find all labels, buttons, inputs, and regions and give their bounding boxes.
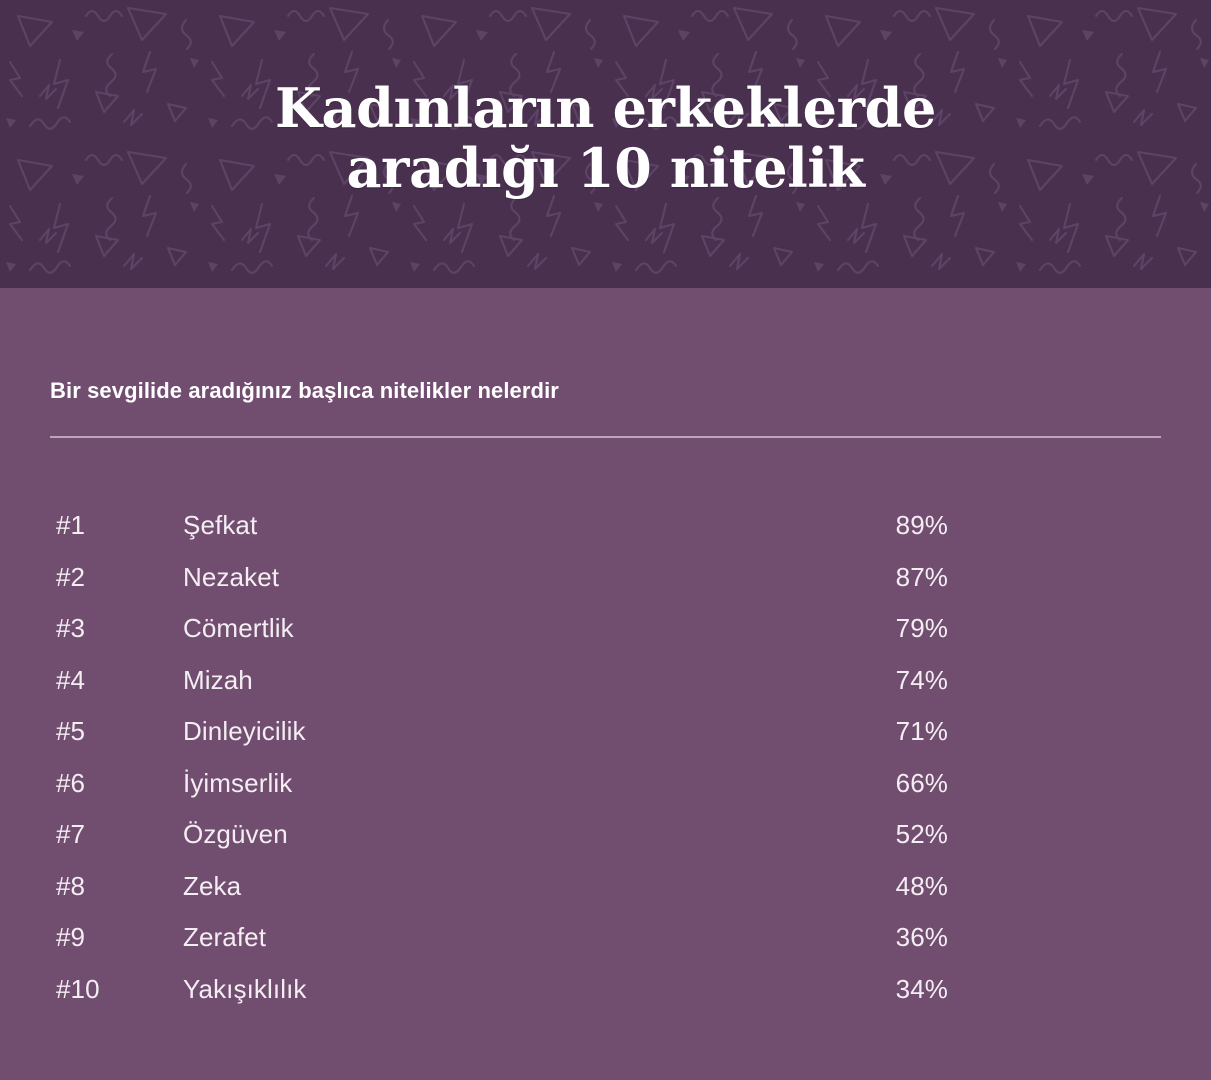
trait-label: Mizah: [183, 665, 1211, 696]
rank-number: #10: [56, 974, 183, 1005]
rank-number: #7: [56, 819, 183, 850]
list-item: #1Şefkat89%: [0, 510, 1211, 562]
percent-value: 34%: [838, 974, 948, 1005]
rank-number: #8: [56, 871, 183, 902]
rank-number: #3: [56, 613, 183, 644]
list-item: #9Zerafet36%: [0, 922, 1211, 974]
trait-label: İyimserlik: [183, 768, 1211, 799]
page-title-line-2: aradığı 10 nitelik: [346, 136, 864, 200]
list-item: #6İyimserlik66%: [0, 768, 1211, 820]
list-item: #7Özgüven52%: [0, 819, 1211, 871]
list-item: #2Nezaket87%: [0, 562, 1211, 614]
infographic-poster: Kadınların erkeklerde aradığı 10 nitelik…: [0, 0, 1211, 1080]
page-title: Kadınların erkeklerde aradığı 10 nitelik: [0, 78, 1211, 199]
trait-label: Zeka: [183, 871, 1211, 902]
rank-number: #5: [56, 716, 183, 747]
page-title-line-1: Kadınların erkeklerde: [275, 76, 936, 140]
trait-label: Nezaket: [183, 562, 1211, 593]
list-item: #10Yakışıklılık34%: [0, 974, 1211, 1026]
trait-label: Özgüven: [183, 819, 1211, 850]
rank-number: #1: [56, 510, 183, 541]
trait-label: Şefkat: [183, 510, 1211, 541]
percent-value: 74%: [838, 665, 948, 696]
rank-number: #6: [56, 768, 183, 799]
trait-label: Dinleyicilik: [183, 716, 1211, 747]
list-item: #8Zeka48%: [0, 871, 1211, 923]
rank-number: #2: [56, 562, 183, 593]
header-banner: Kadınların erkeklerde aradığı 10 nitelik: [0, 0, 1211, 288]
percent-value: 87%: [838, 562, 948, 593]
section-divider: [50, 436, 1161, 438]
rank-number: #9: [56, 922, 183, 953]
ranking-list: #1Şefkat89%#2Nezaket87%#3Cömertlik79%#4M…: [0, 510, 1211, 1025]
rank-number: #4: [56, 665, 183, 696]
percent-value: 71%: [838, 716, 948, 747]
trait-label: Yakışıklılık: [183, 974, 1211, 1005]
percent-value: 48%: [838, 871, 948, 902]
percent-value: 89%: [838, 510, 948, 541]
trait-label: Cömertlik: [183, 613, 1211, 644]
percent-value: 52%: [838, 819, 948, 850]
trait-label: Zerafet: [183, 922, 1211, 953]
list-item: #5Dinleyicilik71%: [0, 716, 1211, 768]
section-subtitle: Bir sevgilide aradığınız başlıca nitelik…: [50, 378, 559, 404]
content-area: Bir sevgilide aradığınız başlıca nitelik…: [0, 288, 1211, 1080]
list-item: #3Cömertlik79%: [0, 613, 1211, 665]
percent-value: 79%: [838, 613, 948, 644]
percent-value: 66%: [838, 768, 948, 799]
list-item: #4Mizah74%: [0, 665, 1211, 717]
percent-value: 36%: [838, 922, 948, 953]
